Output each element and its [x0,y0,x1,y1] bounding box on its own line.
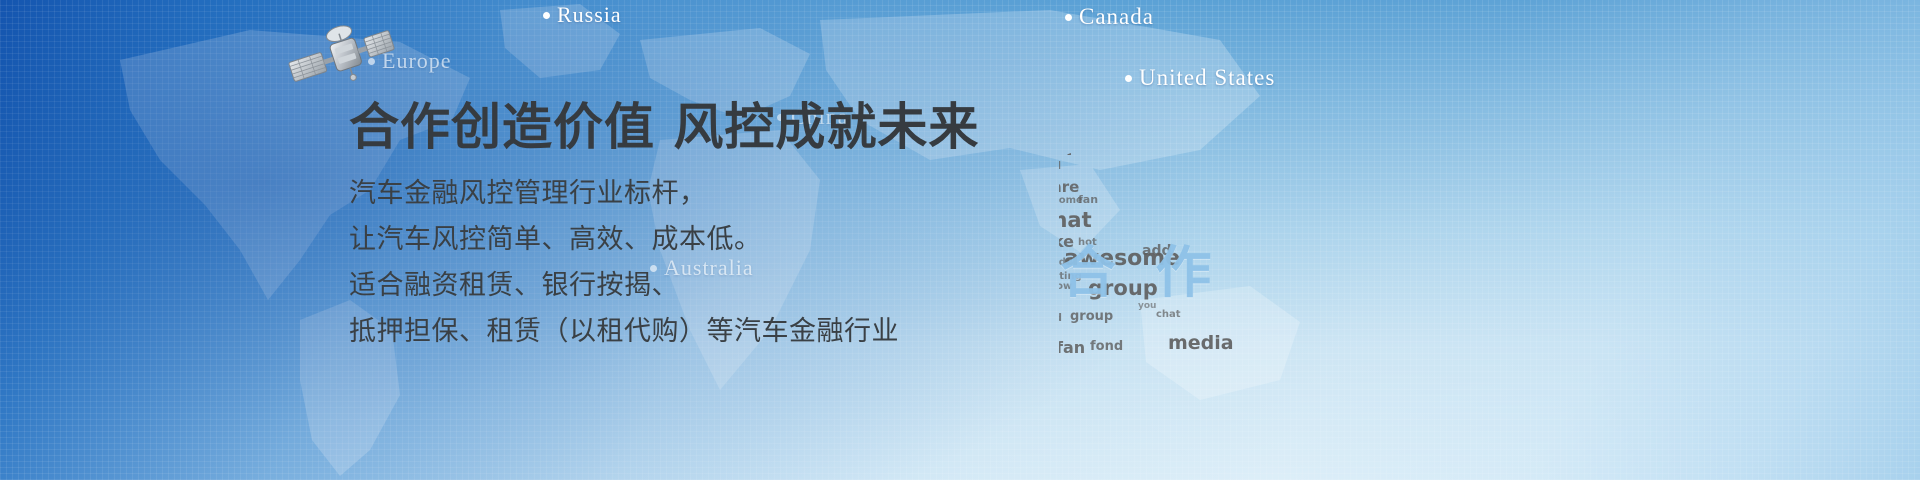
word-cloud-word: chat [1024,28,1051,39]
word-cloud-word: fond [1052,92,1078,102]
word-cloud-word: like [996,178,1034,197]
map-label-europe: Europe [368,48,452,74]
word-cloud-word: fan [1056,340,1085,356]
word-cloud-word: up [1072,122,1085,131]
word-cloud-word: share [1046,136,1078,146]
word-cloud-word: social [982,282,1040,300]
word-cloud-words: chatlikesocialchatsocialmefondmediaplayt… [960,0,1290,375]
word-cloud-word: fan [1036,138,1072,158]
word-cloud-word: group [988,258,1025,269]
map-label-russia: Russia [543,2,622,28]
word-cloud-word: play [1056,105,1077,114]
subcopy-line: 让汽车风控简单、高效、成本低。 [349,217,969,263]
word-cloud-word: chat [1014,60,1068,82]
word-cloud-word: awesome [1030,196,1083,206]
word-cloud-word: chat [990,336,1054,362]
banner-subcopy: 汽车金融风控管理行业标杆， 让汽车风控简单、高效、成本低。 适合融资租赁、银行按… [349,171,969,355]
map-marker-dot [368,58,375,65]
word-cloud-word: like [1026,42,1062,60]
map-marker-dot [543,12,550,19]
word-cloud-word: follow [1010,238,1041,247]
word-cloud-word: group [1070,310,1113,323]
word-cloud-word: social [1006,40,1035,49]
word-cloud-word: share [1032,180,1079,195]
word-cloud-word: follow [990,300,1021,309]
word-cloud-word: team [998,124,1038,138]
word-cloud-thumbs-up: chatlikesocialchatsocialmefondmediaplayt… [960,0,1290,375]
word-cloud-word: media [994,214,1039,227]
word-cloud-word: fond [1034,312,1062,323]
word-cloud-word: chat [988,238,1010,247]
hero-banner: RussiaCanadaUnited StatesEuropeChinaAust… [0,0,1920,480]
word-cloud-word: team [1000,198,1029,208]
subcopy-line: 汽车金融风控管理行业标杆， [349,171,969,217]
word-cloud-word: social [998,85,1043,99]
map-label-text: Europe [382,48,452,74]
word-cloud-word: media [1168,334,1234,353]
word-cloud-word: fond [1090,340,1123,353]
map-label-text: Russia [557,2,622,28]
word-cloud-word: group [996,162,1029,172]
word-cloud-word: awesome [982,312,1040,323]
subcopy-line: 适合融资租赁、银行按揭、 [349,263,969,309]
word-cloud-word: me [1052,80,1069,90]
word-cloud-word: add [1038,160,1061,171]
word-cloud-highlight-label: 合 作 [1060,228,1222,309]
word-cloud-word: chat [1024,258,1049,268]
word-cloud-word: tweet [1042,122,1074,132]
subcopy-line: 抵押担保、租赁（以租代购）等汽车金融行业 [349,309,969,355]
word-cloud-word: fan [1078,194,1098,205]
page-title: 合作创造价值 风控成就未来 [349,100,969,155]
word-cloud-word: media [1000,100,1073,121]
word-cloud-word: add [1000,140,1032,155]
banner-copy: 合作创造价值 风控成就未来 汽车金融风控管理行业标杆， 让汽车风控简单、高效、成… [349,100,969,355]
word-cloud-word: chat [1156,310,1181,320]
word-cloud-word: like [978,324,996,333]
